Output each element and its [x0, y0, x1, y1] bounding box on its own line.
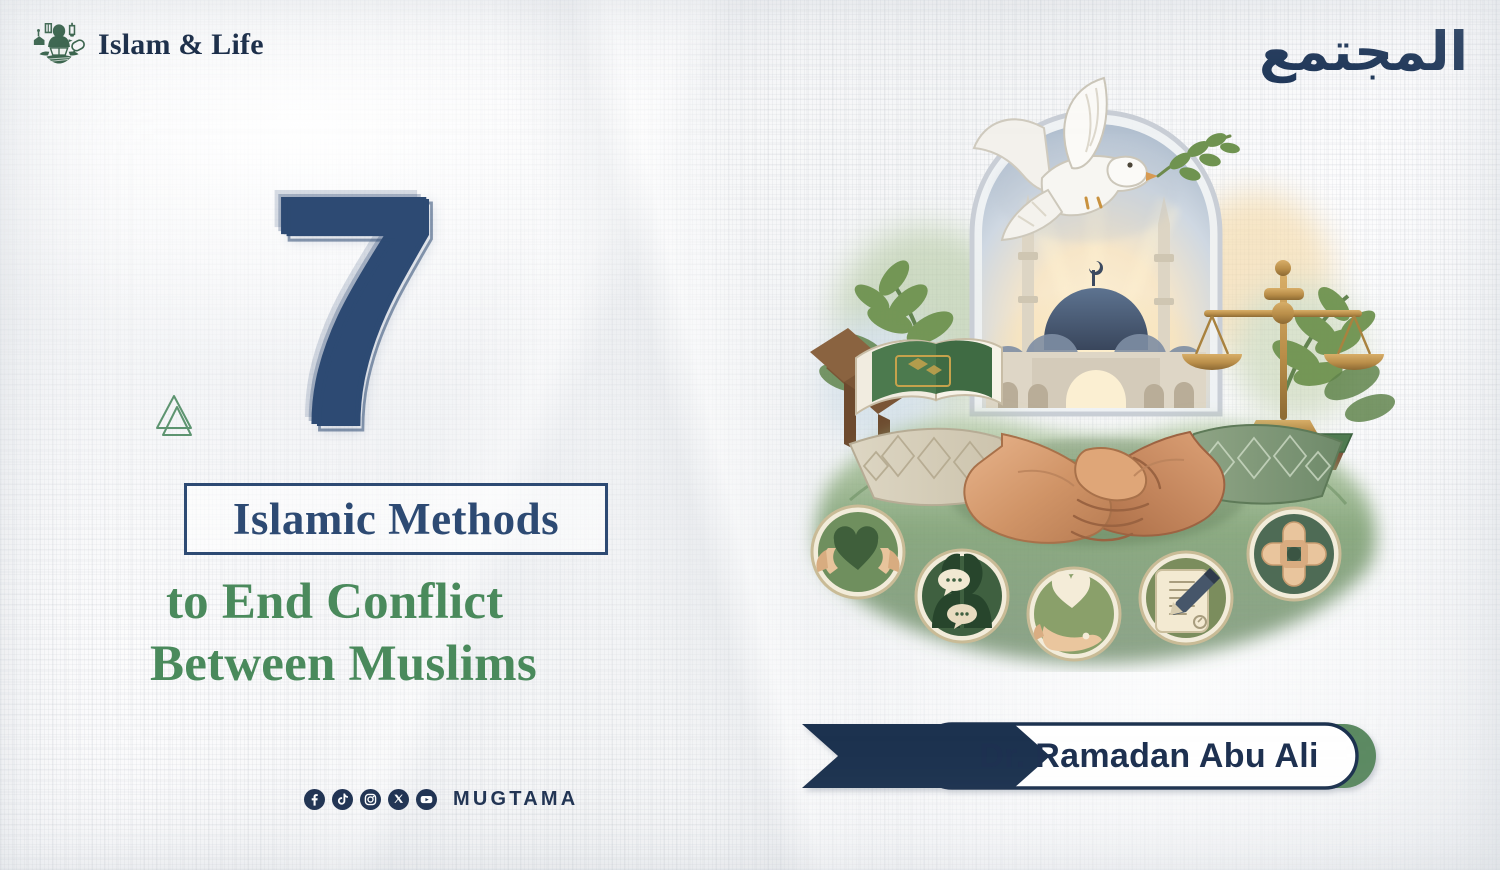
brand-logo[interactable]: Islam & Life: [30, 16, 264, 74]
author-banner[interactable]: Dr. Ramadan Abu Ali: [800, 722, 1378, 790]
hands-holding-heart-icon: [812, 506, 904, 598]
hero-illustration: [786, 52, 1406, 672]
dialogue-speech-icon: [916, 550, 1008, 642]
subtitle: to End Conflict Between Muslims: [150, 571, 790, 695]
unity-hands-circle-icon: [1248, 508, 1340, 600]
hero-number: 7 7: [268, 150, 548, 470]
social-handle: MUGTAMA: [453, 788, 578, 811]
reading-person-emblem-icon: [30, 16, 88, 74]
social-bar: MUGTAMA: [304, 788, 578, 811]
giving-hand-heart-icon: [1028, 568, 1120, 660]
x-twitter-icon[interactable]: [388, 789, 409, 810]
facebook-icon[interactable]: [304, 789, 325, 810]
double-triangle-ornament-icon: [150, 390, 204, 447]
brand-label: Islam & Life: [98, 28, 264, 62]
subtitle-line-2: Between Muslims: [150, 633, 790, 695]
author-name: Dr. Ramadan Abu Ali: [934, 722, 1364, 790]
subtitle-line-1: to End Conflict: [150, 571, 790, 633]
boxed-title-text: Islamic Methods: [233, 493, 559, 545]
poster-canvas: Islam & Life المجتمع 7 7 Islamic Methods…: [0, 0, 1500, 870]
youtube-icon[interactable]: [416, 789, 437, 810]
boxed-title: Islamic Methods: [184, 483, 608, 555]
document-and-pen-icon: [1140, 552, 1232, 644]
hero-number-value: 7: [268, 150, 526, 470]
tiktok-icon[interactable]: [332, 789, 353, 810]
instagram-icon[interactable]: [360, 789, 381, 810]
